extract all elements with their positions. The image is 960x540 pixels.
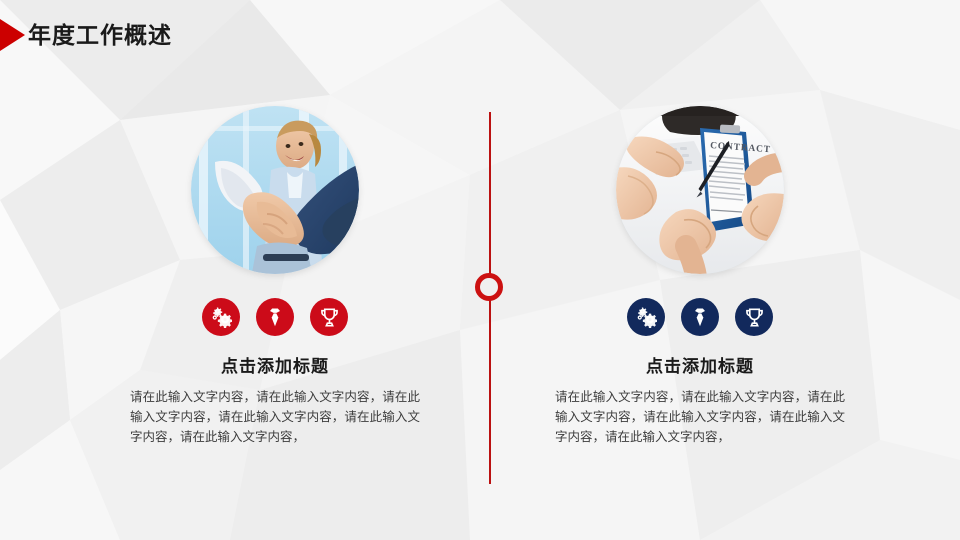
necktie-icon[interactable] [681,298,719,336]
contract-signing-photo[interactable]: CONTRACT [616,106,784,274]
trophy-glyph [319,307,340,328]
handshake-photo-graphic [191,106,359,274]
content-column-right: CONTRACT [500,106,900,447]
page-title: 年度工作概述 [28,20,172,51]
gears-glyph [210,306,232,328]
handshake-photo[interactable] [191,106,359,274]
icon-row-right [627,298,773,336]
triangle-right-icon [0,19,25,51]
center-divider-ring-node [475,273,503,301]
column-title-right: 点击添加标题 [646,352,754,377]
content-column-left: 点击添加标题 请在此输入文字内容，请在此输入文字内容，请在此输入文字内容，请在此… [75,106,475,447]
gears-icon[interactable] [202,298,240,336]
column-body-left: 请在此输入文字内容，请在此输入文字内容，请在此输入文字内容，请在此输入文字内容，… [130,387,420,447]
necktie-icon[interactable] [256,298,294,336]
trophy-icon[interactable] [735,298,773,336]
gears-glyph [635,306,657,328]
necktie-glyph [265,306,285,328]
trophy-icon[interactable] [310,298,348,336]
necktie-glyph [690,306,710,328]
contract-photo-graphic: CONTRACT [616,106,784,274]
column-body-right: 请在此输入文字内容，请在此输入文字内容，请在此输入文字内容，请在此输入文字内容，… [555,387,845,447]
icon-row-left [202,298,348,336]
column-title-left: 点击添加标题 [221,352,329,377]
trophy-glyph [744,307,765,328]
slide-header: 年度工作概述 [0,0,960,72]
gears-icon[interactable] [627,298,665,336]
slide-canvas: 年度工作概述 [0,0,960,540]
